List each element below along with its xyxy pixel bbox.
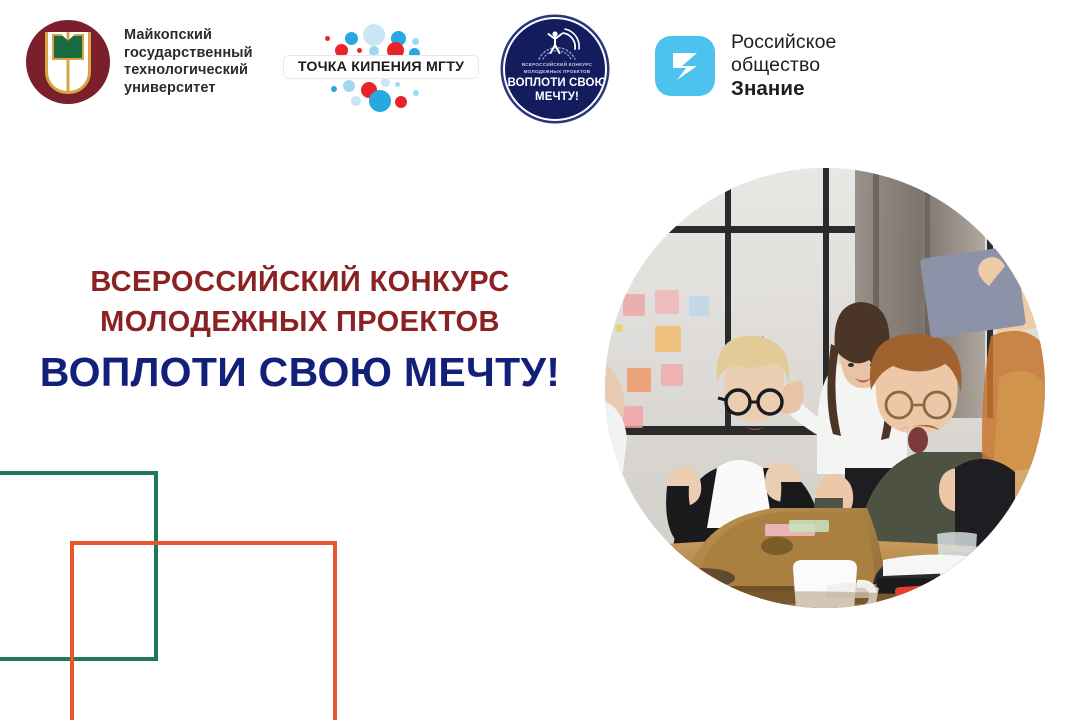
- celebrating-team-photo: [605, 168, 1045, 608]
- znanie-z-icon: [655, 36, 715, 96]
- logo-znanie: Российское общество Знание: [655, 31, 836, 100]
- logo-bar: Майкопский государственный технологическ…: [0, 0, 1075, 132]
- contest-badge-icon: ВСЕРОССИЙСКИЙ КОНКУРС МОЛОДЕЖНЫХ ПРОЕКТО…: [503, 17, 607, 121]
- logo-contest-badge: ВСЕРОССИЙСКИЙ КОНКУРС МОЛОДЕЖНЫХ ПРОЕКТО…: [503, 17, 607, 121]
- contest-badge-subtitle: ВСЕРОССИЙСКИЙ КОНКУРС МОЛОДЕЖНЫХ ПРОЕКТО…: [505, 61, 607, 75]
- logo-tochka-kipeniya-label: ТОЧКА КИПЕНИЯ МГТУ: [298, 59, 464, 75]
- logo-mgtu-label: Майкопский государственный технологическ…: [124, 27, 253, 97]
- logo-znanie-line2: общество: [731, 54, 836, 77]
- badge-person-icon: [547, 30, 563, 54]
- logo-tochka-kipeniya: ТОЧКА КИПЕНИЯ МГТУ: [283, 18, 479, 114]
- title-line-1: ВСЕРОССИЙСКИЙ КОНКУРС: [0, 262, 600, 302]
- znanie-z-glyph-icon: [666, 47, 704, 85]
- poster-title-block: ВСЕРОССИЙСКИЙ КОНКУРС МОЛОДЕЖНЫХ ПРОЕКТО…: [0, 262, 600, 396]
- title-line-2: МОЛОДЕЖНЫХ ПРОЕКТОВ: [0, 302, 600, 342]
- celebrating-team-photo-illustration: [605, 168, 1045, 608]
- contest-badge-title: ВОПЛОТИ СВОЮ МЕЧТУ!: [505, 77, 607, 104]
- boiling-point-bubbles-icon: ТОЧКА КИПЕНИЯ МГТУ: [283, 18, 479, 114]
- logo-mgtu: Майкопский государственный технологическ…: [26, 20, 253, 104]
- mgtu-emblem-icon: [26, 20, 110, 104]
- logo-znanie-label: Российское общество Знание: [731, 31, 836, 100]
- logo-znanie-line3: Знание: [731, 77, 836, 100]
- logo-znanie-line1: Российское: [731, 31, 836, 54]
- decorative-orange-square: [70, 541, 337, 720]
- poster-canvas: Майкопский государственный технологическ…: [0, 0, 1075, 720]
- logo-tochka-kipeniya-plate: ТОЧКА КИПЕНИЯ МГТУ: [283, 55, 479, 79]
- title-line-3: ВОПЛОТИ СВОЮ МЕЧТУ!: [0, 348, 600, 396]
